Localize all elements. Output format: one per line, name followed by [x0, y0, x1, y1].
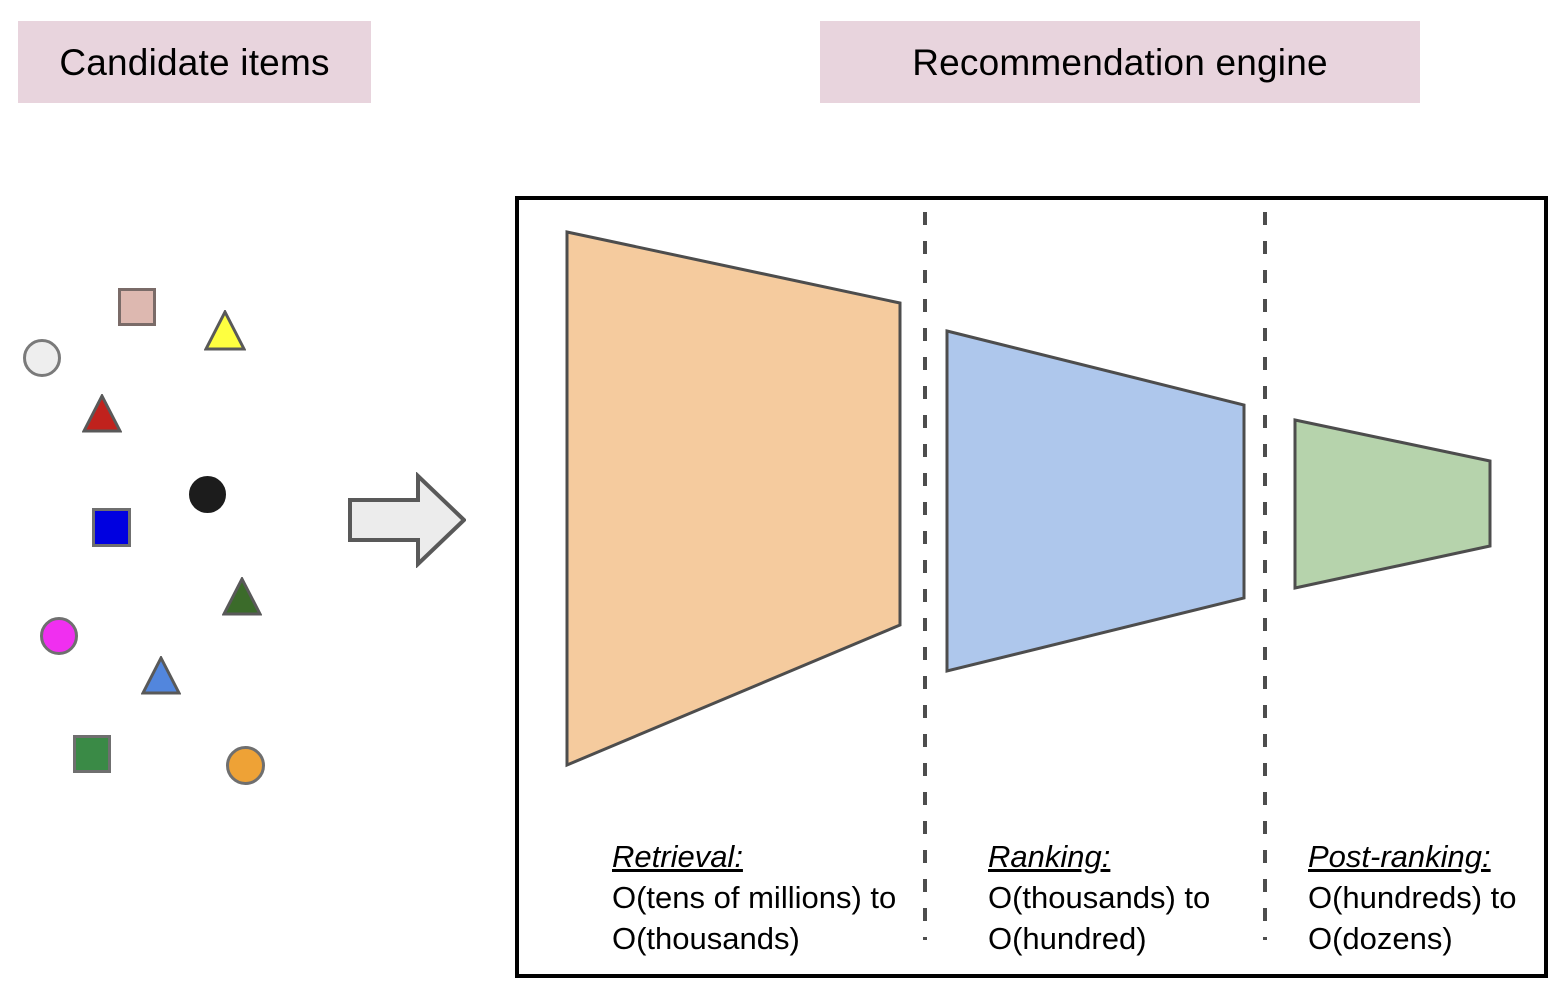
candidate-items-banner-label: Candidate items — [59, 44, 329, 81]
right-arrow-icon — [348, 472, 466, 568]
stage-title-post-ranking: Post-ranking: — [1308, 836, 1554, 877]
candidate-items-banner: Candidate items — [18, 21, 371, 103]
stage-caption-post-ranking: Post-ranking: O(hundreds) to O(dozens) — [1308, 836, 1554, 960]
circle-icon — [23, 339, 61, 377]
triangle-icon — [222, 577, 262, 617]
circle-icon — [189, 476, 226, 513]
triangle-icon — [141, 656, 181, 696]
square-icon — [92, 508, 131, 547]
stage-body-post-ranking: O(hundreds) to O(dozens) — [1308, 877, 1554, 959]
triangle-icon — [82, 394, 122, 434]
stage-title-retrieval: Retrieval: — [612, 836, 912, 877]
stage-title-ranking: Ranking: — [988, 836, 1250, 877]
diagram-canvas: Candidate items Recommendation engine Re… — [0, 0, 1568, 1000]
stage-body-ranking: O(thousands) to O(hundred) — [988, 877, 1250, 959]
circle-icon — [226, 746, 265, 785]
recommendation-engine-banner: Recommendation engine — [820, 21, 1420, 103]
stage-caption-retrieval: Retrieval: O(tens of millions) to O(thou… — [612, 836, 912, 960]
circle-icon — [40, 617, 78, 655]
stage-body-retrieval: O(tens of millions) to O(thousands) — [612, 877, 912, 959]
recommendation-engine-banner-label: Recommendation engine — [912, 44, 1328, 81]
square-icon — [118, 288, 156, 326]
square-icon — [73, 735, 111, 773]
triangle-icon — [204, 310, 246, 352]
stage-caption-ranking: Ranking: O(thousands) to O(hundred) — [988, 836, 1250, 960]
